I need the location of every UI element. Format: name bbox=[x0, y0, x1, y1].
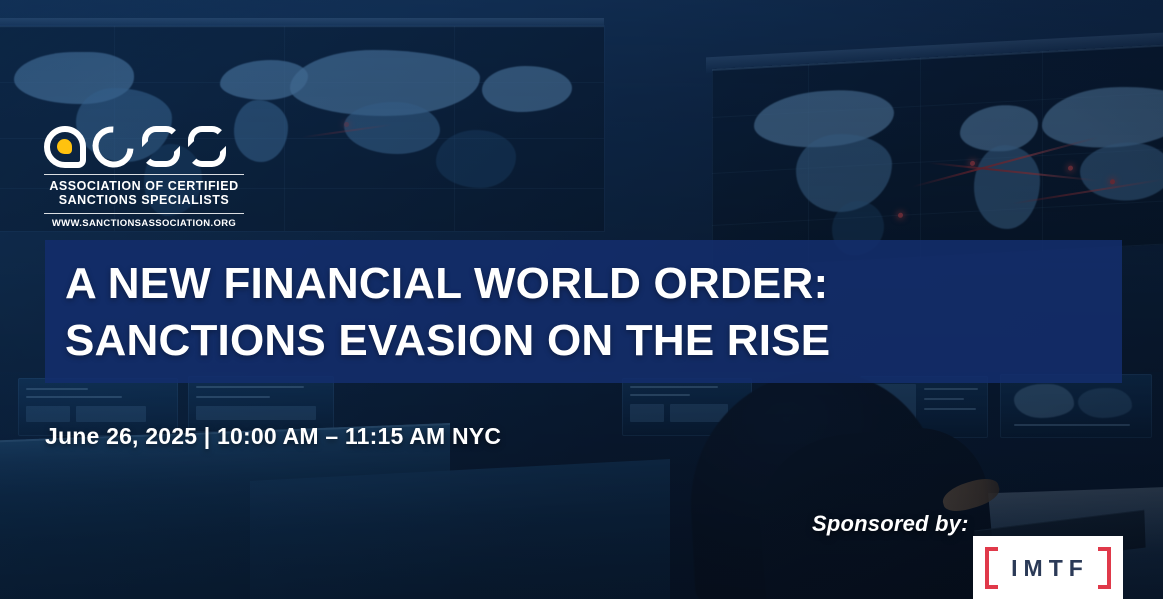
imtf-logo: IMTF bbox=[973, 536, 1123, 599]
webinar-promo-banner: ASSOCIATION OF CERTIFIED SANCTIONS SPECI… bbox=[0, 0, 1163, 599]
title-line-2: SANCTIONS EVASION ON THE RISE bbox=[65, 312, 1122, 369]
imtf-bracket-left-icon bbox=[985, 547, 998, 589]
logo-divider-bottom bbox=[44, 213, 244, 214]
acss-letter-s2-icon bbox=[188, 126, 226, 168]
acss-accent-dot-icon bbox=[57, 139, 72, 154]
sponsored-by-label: Sponsored by: bbox=[812, 511, 969, 537]
acss-letter-s1-icon bbox=[142, 126, 180, 168]
imtf-bracket-right-icon bbox=[1098, 547, 1111, 589]
acss-letter-a-icon bbox=[44, 126, 86, 168]
acss-letter-c-icon bbox=[84, 118, 142, 176]
event-date-time: June 26, 2025 | 10:00 AM – 11:15 AM NYC bbox=[45, 423, 501, 450]
title-line-1: A NEW FINANCIAL WORLD ORDER: bbox=[65, 255, 1122, 312]
acss-website-url: WWW.SANCTIONSASSOCIATION.ORG bbox=[44, 218, 244, 229]
logo-divider-top bbox=[44, 174, 244, 175]
title-banner: A NEW FINANCIAL WORLD ORDER: SANCTIONS E… bbox=[45, 240, 1122, 383]
imtf-logo-text: IMTF bbox=[998, 547, 1098, 589]
acss-logo: ASSOCIATION OF CERTIFIED SANCTIONS SPECI… bbox=[44, 122, 244, 229]
acss-wordmark bbox=[44, 122, 244, 168]
acss-tagline: ASSOCIATION OF CERTIFIED SANCTIONS SPECI… bbox=[44, 179, 244, 207]
